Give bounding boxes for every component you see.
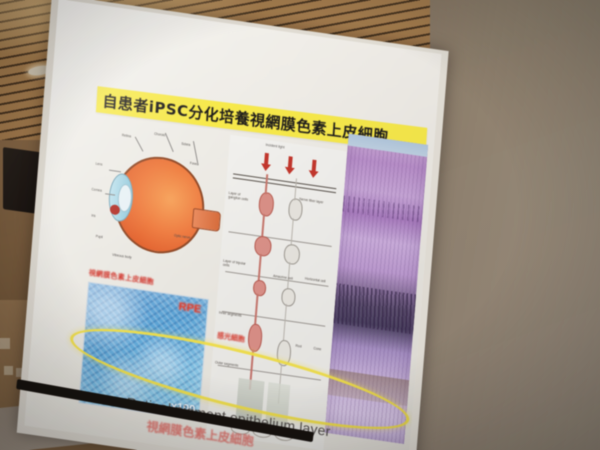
- retina-label-7: Rod: [295, 344, 311, 351]
- photoreceptor-caption-zh: 感光細胞: [217, 330, 246, 344]
- micrograph-rpe-label: RPE: [178, 301, 201, 316]
- retina-label-0: Layer of ganglion cells: [228, 191, 253, 203]
- bipolar-cell-red: [254, 235, 272, 257]
- bipolar-cell-grey: [283, 243, 300, 265]
- presentation-slide: 自患者iPSC分化培養視網膜色素上皮細胞: [24, 0, 441, 450]
- eye-label-3: Lens: [95, 162, 102, 167]
- histology-nuclear-layer-outer: [343, 195, 424, 222]
- histology-nuclear-layer: [334, 283, 417, 334]
- retina-label-3: Amacrine cell: [273, 274, 299, 282]
- eye-label-6: Pupil: [96, 234, 103, 239]
- eye-label-2: Sclera: [181, 142, 190, 147]
- retina-label-2: Layer of bipolar cells: [223, 259, 248, 271]
- photoreceptor-body-red: [247, 323, 263, 353]
- layer-line-3: [228, 231, 331, 247]
- incident-light-label: Incident light: [265, 143, 284, 150]
- amacrine-cell-grey: [281, 287, 296, 307]
- lecture-hall-photo: 自患者iPSC分化培養視網膜色素上皮細胞: [0, 0, 600, 450]
- eye-label-5: Iris: [91, 213, 96, 218]
- retina-label-1: Nerve fiber layer: [299, 197, 339, 207]
- retina-label-5: Inner segments: [219, 311, 243, 319]
- wall-outlet-c: [4, 366, 13, 375]
- eye-label-7: Vitreous body: [112, 253, 132, 260]
- ganglion-cell-red: [258, 191, 275, 217]
- axon-g1: [294, 178, 297, 200]
- axon-g4: [283, 304, 288, 344]
- projector-screen-assembly: 自患者iPSC分化培養視網膜色素上皮細胞: [16, 0, 448, 450]
- wall-outlet-b: [0, 338, 10, 349]
- eye-leader-0: [135, 137, 143, 152]
- eye-label-4: Cornea: [91, 187, 102, 192]
- eye-leader-3: [109, 170, 121, 172]
- axon-1: [265, 174, 269, 194]
- layer-line-1: [233, 173, 336, 189]
- eye-leader-1: [165, 133, 173, 152]
- eye-label-1: Choroid: [154, 132, 165, 138]
- axon-g2: [291, 218, 295, 246]
- axon-2: [261, 214, 265, 238]
- retina-label-8: Cone: [313, 346, 329, 353]
- eye-leader-2: [193, 141, 198, 163]
- horizontal-cell-red: [252, 279, 266, 297]
- projector-screen: 自患者iPSC分化培養視網膜色素上皮細胞: [24, 0, 441, 450]
- eye-label-0: Retina: [122, 133, 131, 138]
